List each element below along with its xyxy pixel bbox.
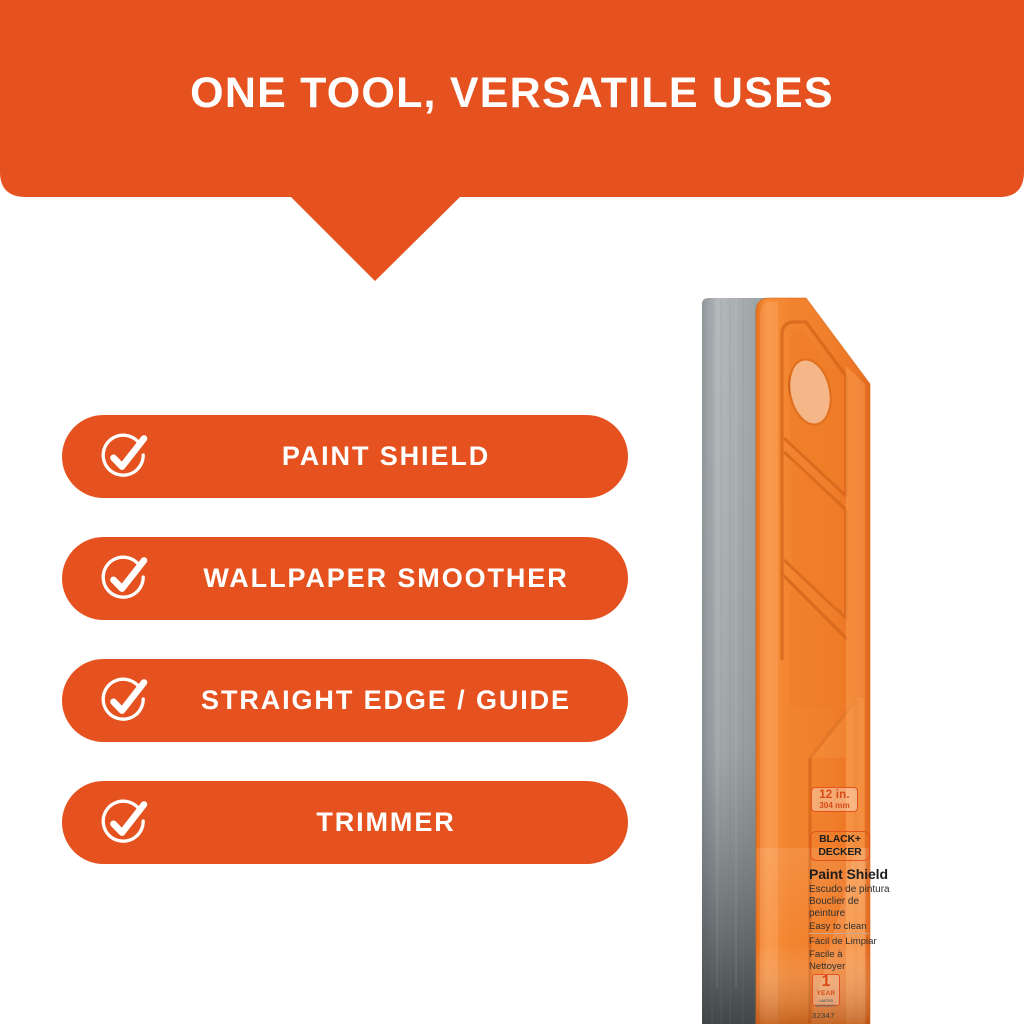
feature-pill-straight-edge-guide[interactable]: STRAIGHT EDGE / GUIDE bbox=[62, 659, 628, 742]
product-name-fr: Bouclier de peinture bbox=[809, 896, 881, 919]
banner-bubble-shape bbox=[0, 0, 1024, 290]
feature-pill-label: PAINT SHIELD bbox=[162, 443, 610, 470]
infographic-canvas: ONE TOOL, VERSATILE USES PAINT SHIELD WA… bbox=[0, 0, 1024, 1024]
size-imperial-label: 12 in. bbox=[811, 789, 858, 801]
feature-text-en: Easy to clean bbox=[809, 921, 867, 932]
circle-check-icon bbox=[99, 553, 151, 605]
feature-pill-wallpaper-smoother[interactable]: WALLPAPER SMOOTHER bbox=[62, 537, 628, 620]
size-metric-label: 304 mm bbox=[811, 801, 858, 810]
feature-pill-label: STRAIGHT EDGE / GUIDE bbox=[162, 687, 610, 714]
product-sku: 32347 bbox=[812, 1011, 835, 1020]
feature-list: PAINT SHIELD WALLPAPER SMOOTHER STRAIGHT… bbox=[62, 415, 628, 864]
circle-check-icon bbox=[99, 431, 151, 483]
feature-text-fr: Facile à Nettoyer bbox=[809, 949, 871, 972]
feature-pill-label: WALLPAPER SMOOTHER bbox=[162, 565, 610, 592]
feature-pill-paint-shield[interactable]: PAINT SHIELD bbox=[62, 415, 628, 498]
warranty-number: 1 bbox=[812, 974, 840, 990]
product-name-en: Paint Shield bbox=[809, 866, 888, 882]
warranty-unit: YEAR bbox=[812, 990, 840, 997]
circle-check-icon bbox=[99, 797, 151, 849]
brand-logo-text: BLACK+ DECKER bbox=[810, 833, 870, 859]
warranty-subtext: LIMITED WARRANTY bbox=[810, 999, 842, 1008]
feature-pill-label: TRIMMER bbox=[162, 809, 610, 836]
product-name-es: Escudo de pintura bbox=[809, 884, 890, 895]
header-banner: ONE TOOL, VERSATILE USES bbox=[0, 0, 1024, 290]
label-divider bbox=[809, 933, 869, 934]
circle-check-icon bbox=[99, 675, 151, 727]
feature-text-es: Fácil de Limpiar bbox=[809, 936, 877, 947]
feature-pill-trimmer[interactable]: TRIMMER bbox=[62, 781, 628, 864]
page-title: ONE TOOL, VERSATILE USES bbox=[0, 72, 1024, 115]
